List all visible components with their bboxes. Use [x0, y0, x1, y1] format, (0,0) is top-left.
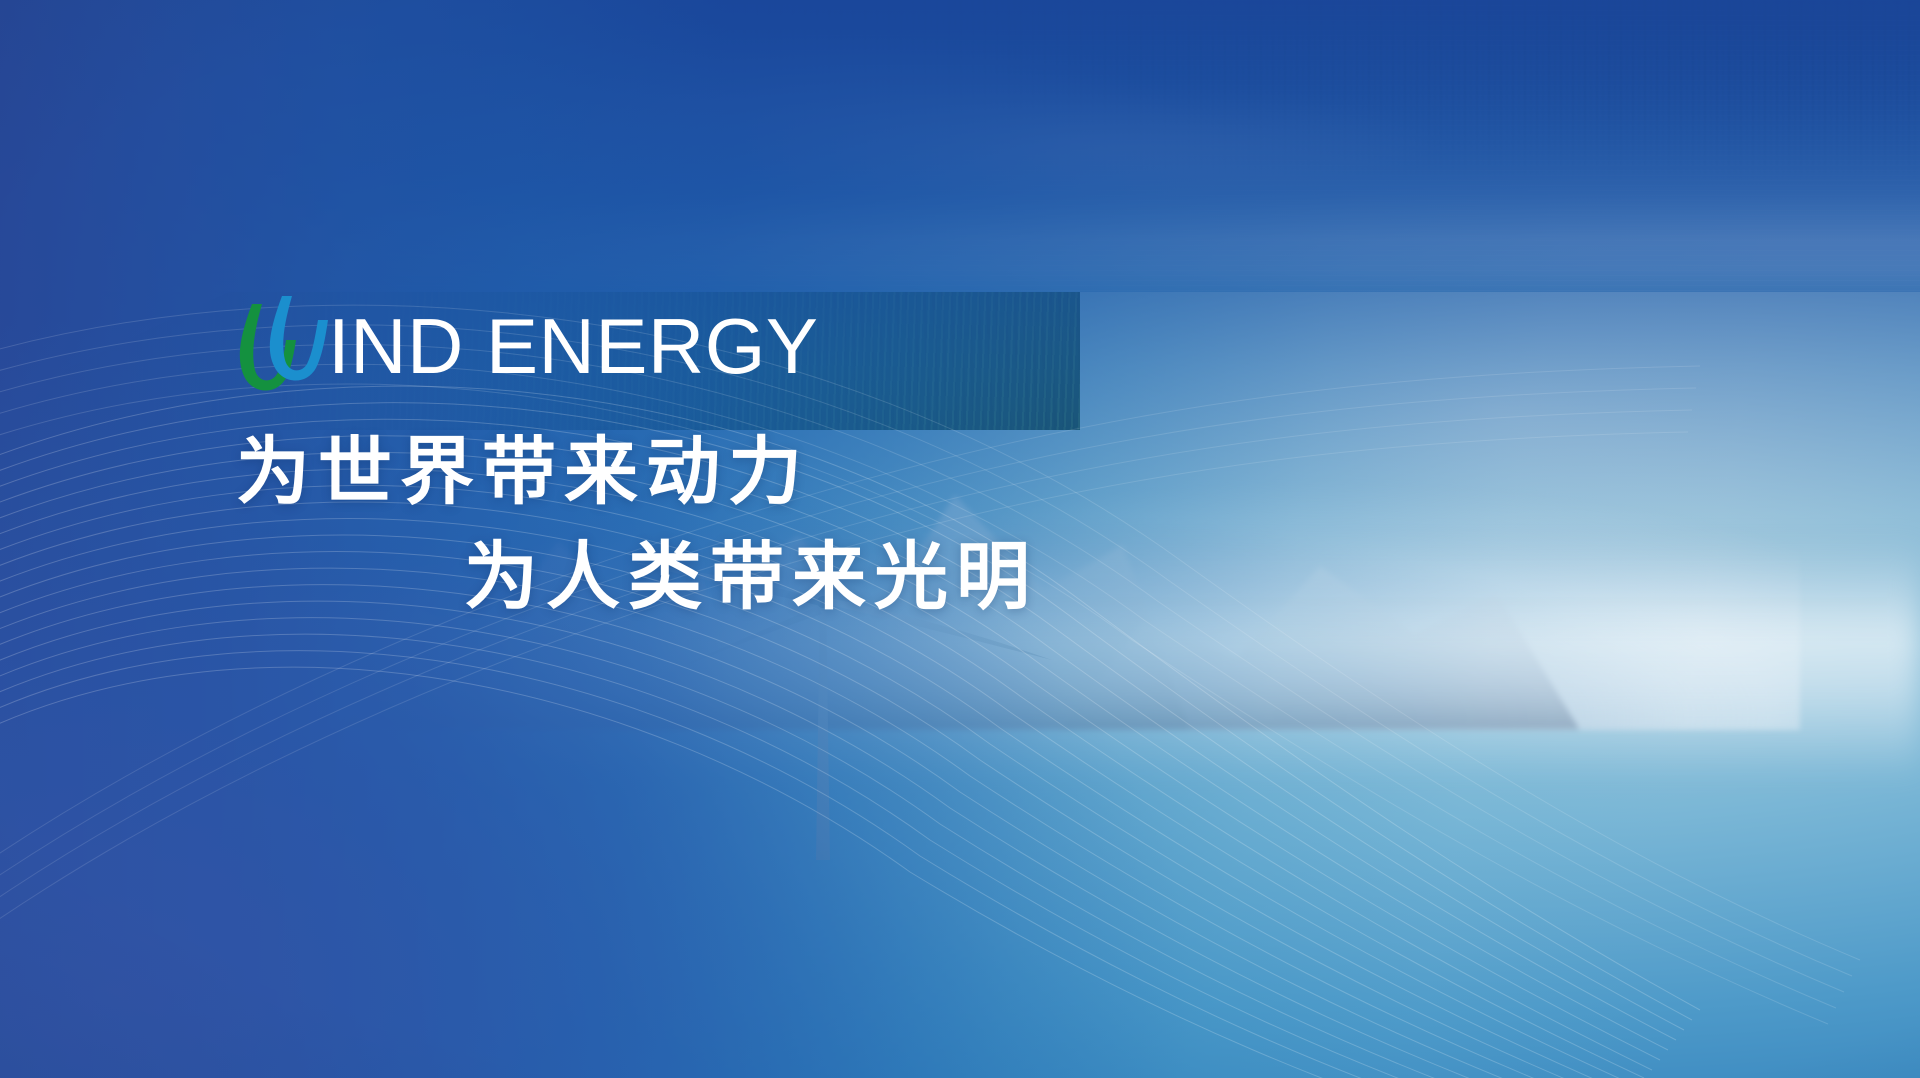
banner-content: IND ENERGY 为世界带来动力 为人类带来光明 [0, 0, 1920, 1078]
wind-w-logo-icon [232, 296, 328, 396]
hero-banner: IND ENERGY 为世界带来动力 为人类带来光明 [0, 0, 1920, 1078]
brand-lockup: IND ENERGY [232, 296, 818, 396]
brand-wordmark: IND ENERGY [328, 307, 818, 385]
headline-line-2: 为人类带来光明 [236, 525, 1436, 630]
headline-line-1: 为世界带来动力 [236, 420, 1436, 525]
headline-block: 为世界带来动力 为人类带来光明 [236, 420, 1436, 630]
